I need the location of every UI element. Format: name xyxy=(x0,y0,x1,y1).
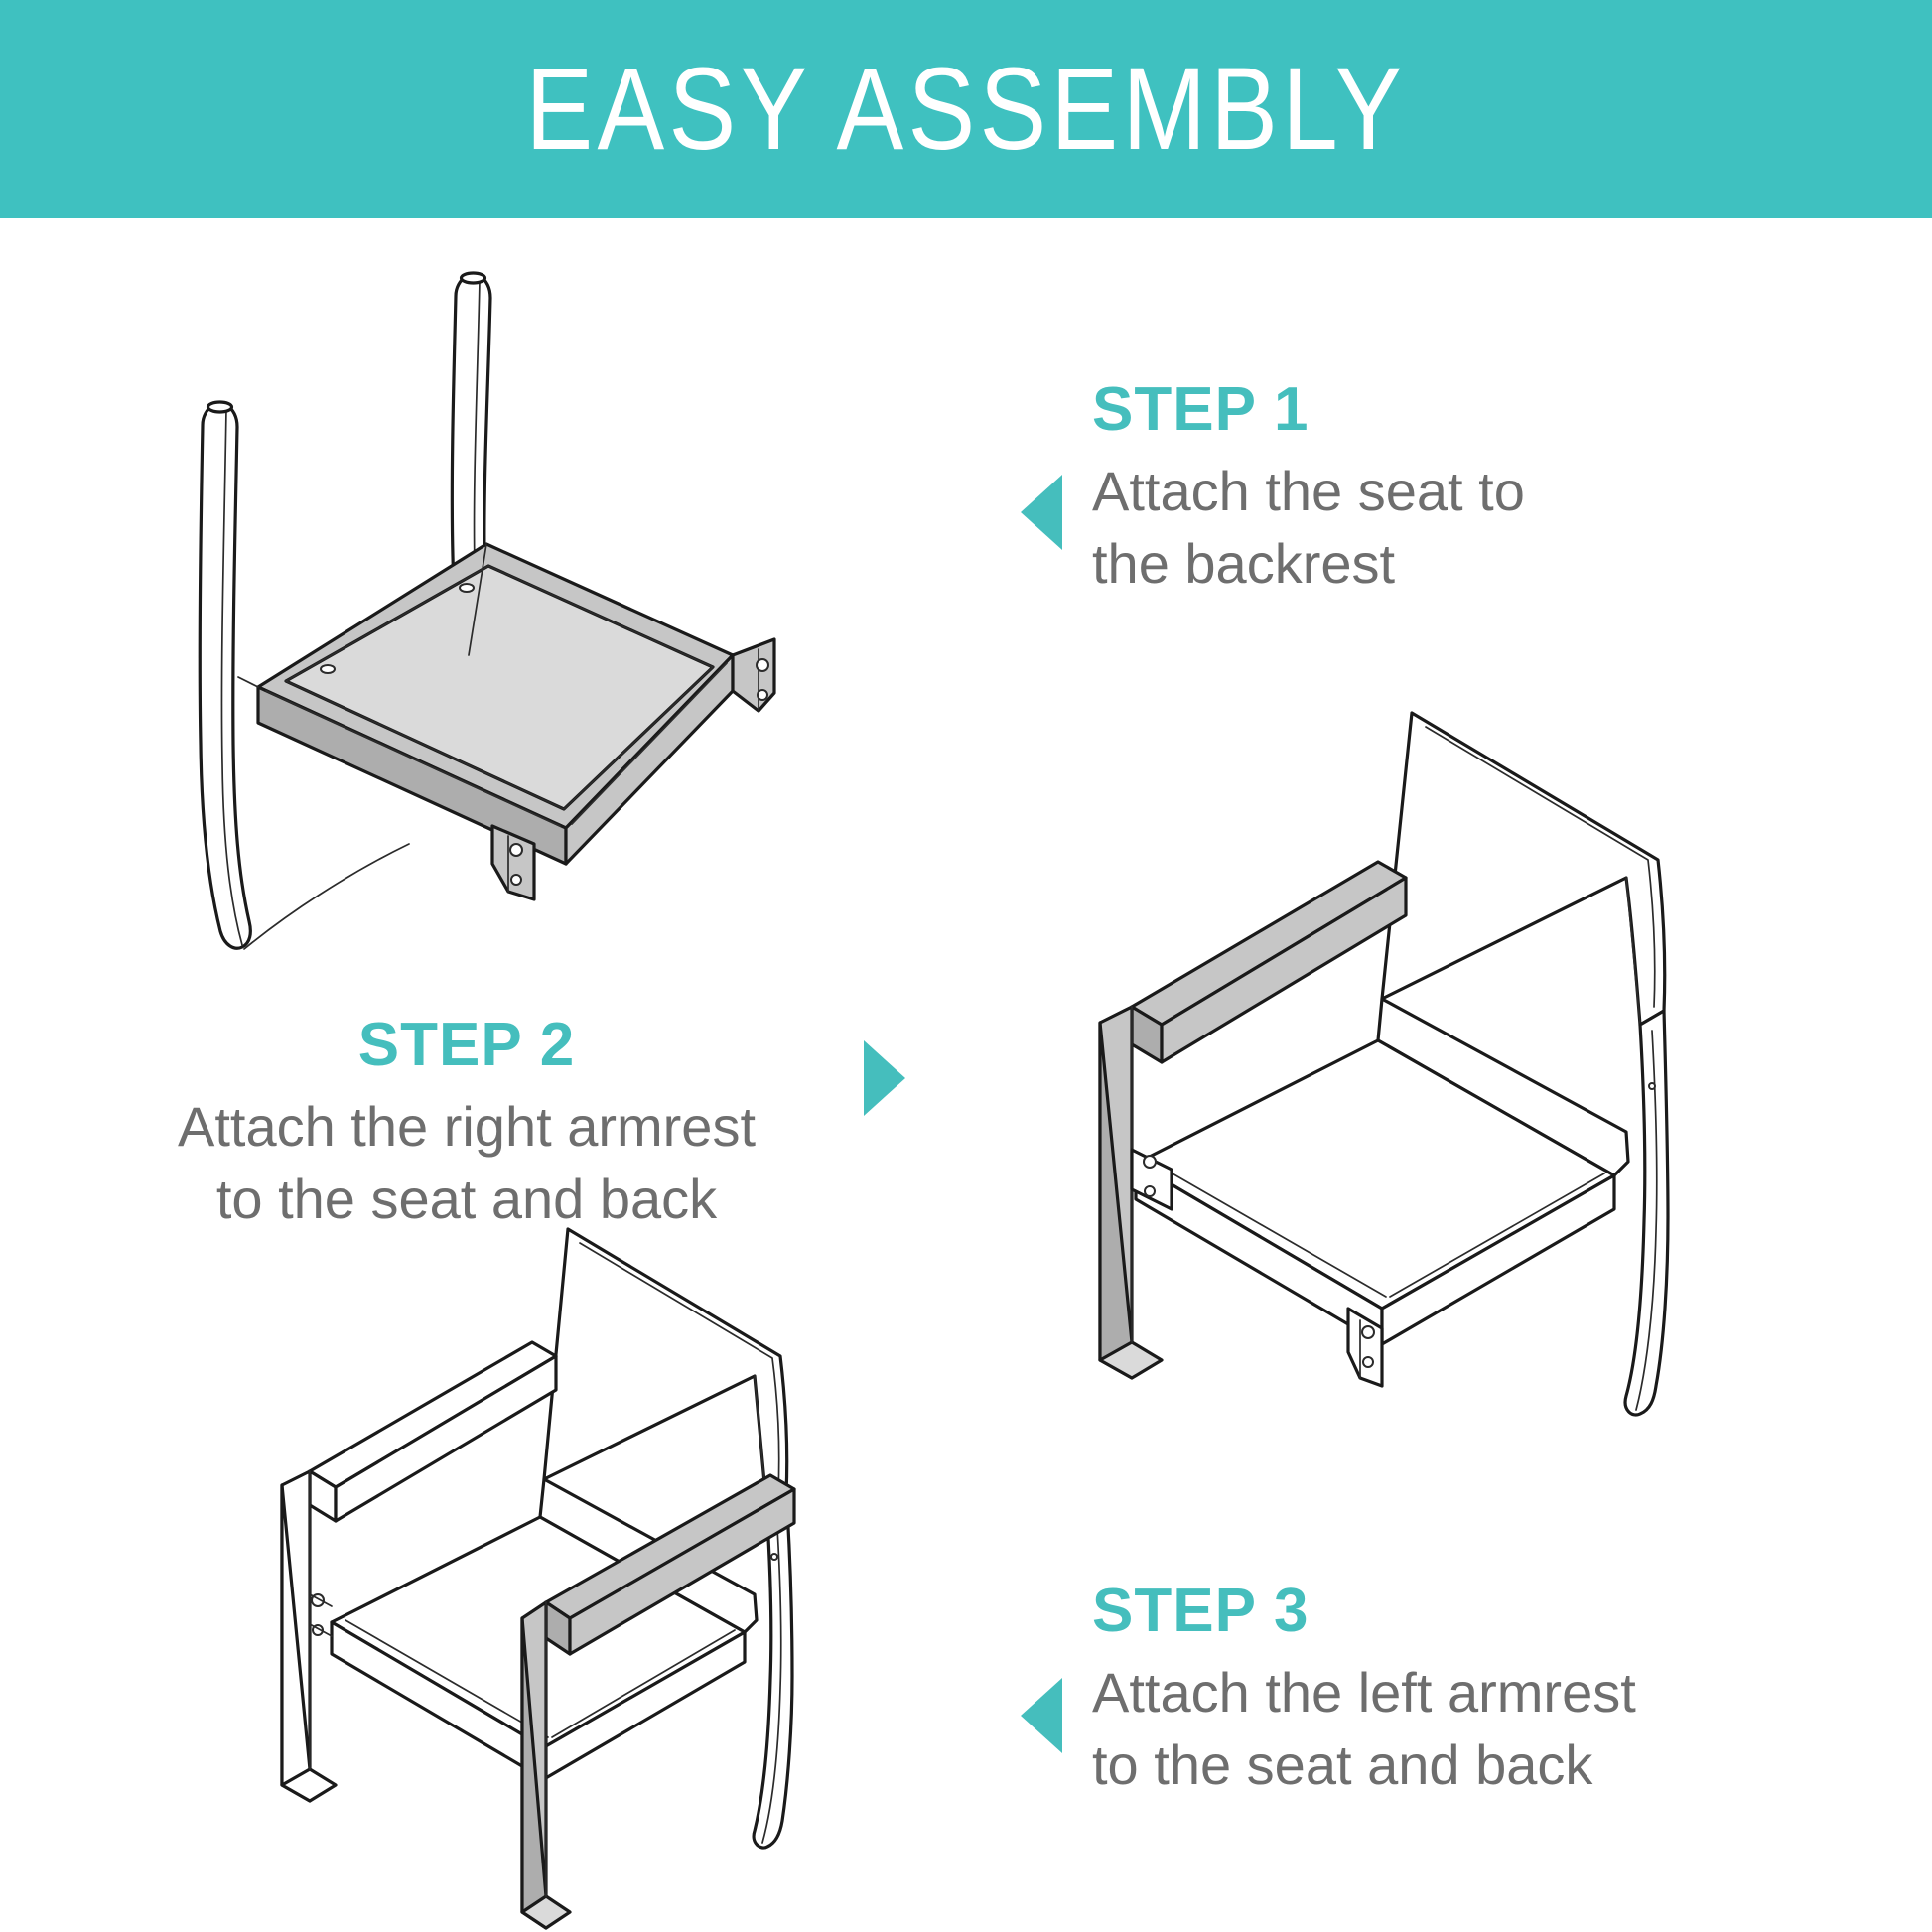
step-1-illustration xyxy=(139,228,874,963)
step-3-heading: STEP 3 xyxy=(1092,1579,1847,1643)
step-2-heading: STEP 2 xyxy=(109,1013,824,1077)
step-1-arrow-icon xyxy=(1021,475,1062,550)
step-3-arrow-icon xyxy=(1021,1678,1062,1753)
step-3-body: Attach the left armrest to the seat and … xyxy=(1092,1657,1847,1802)
step-1-text-block: STEP 1 Attach the seat to the backrest xyxy=(1092,377,1787,601)
assembly-infographic: EASY ASSEMBLY xyxy=(0,0,1932,1932)
step-1-body: Attach the seat to the backrest xyxy=(1092,456,1787,601)
step-2-arrow-icon xyxy=(864,1040,905,1116)
step-3-illustration xyxy=(218,1201,953,1932)
step-3-text-block: STEP 3 Attach the left armrest to the se… xyxy=(1092,1579,1847,1802)
step-2-illustration xyxy=(1033,665,1827,1459)
page-title: EASY ASSEMBLY xyxy=(135,0,1797,218)
step-1-heading: STEP 1 xyxy=(1092,377,1787,442)
